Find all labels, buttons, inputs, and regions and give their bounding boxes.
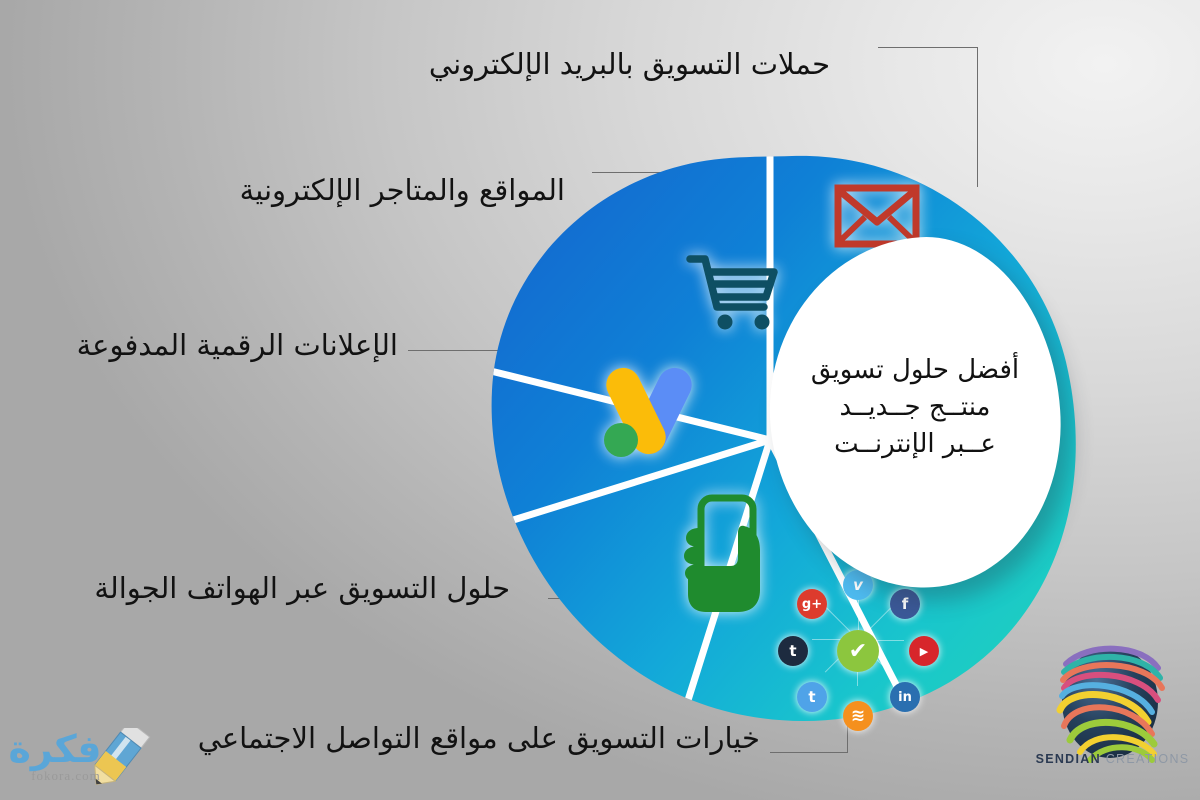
brand-name: SENDIAN CREATIONS (1030, 752, 1195, 766)
social-cluster-icon: v f ▶ in ≋ t t g+ ✔ (788, 570, 928, 710)
label-websites-estores: المواقع والمتاجر الإلكترونية (180, 172, 565, 208)
google-ads-icon (597, 363, 703, 467)
brand-name-light: CREATIONS (1106, 752, 1190, 766)
googleplus-icon[interactable]: g+ (797, 589, 827, 619)
twitter-icon[interactable]: t (797, 682, 827, 712)
fokora-arabic-text: فكرة (6, 730, 104, 768)
label-social-media-marketing: خيارات التسويق على مواقع التواصل الاجتما… (140, 720, 760, 756)
center-line-2: منتــج جــديــد (790, 389, 1040, 426)
shopping-cart-icon (686, 250, 780, 336)
hand-phone-icon (674, 494, 778, 620)
fokora-latin-text: fokora.com (6, 768, 126, 784)
label-paid-digital-ads: الإعلانات الرقمية المدفوعة (20, 327, 398, 363)
youtube-icon[interactable]: ▶ (909, 636, 939, 666)
brand-name-bold: SENDIAN (1036, 752, 1101, 766)
label-email-marketing: حملات التسويق بالبريد الإلكتروني (380, 46, 830, 82)
facebook-icon[interactable]: f (890, 589, 920, 619)
rss-icon[interactable]: ≋ (843, 701, 873, 731)
check-icon[interactable]: ✔ (837, 630, 879, 672)
center-line-3: عــبر الإنترنــت (790, 426, 1040, 463)
center-headline: أفضل حلول تسويق منتــج جــديــد عــبر ال… (790, 352, 1040, 463)
infographic-canvas: v f ▶ in ≋ t t g+ ✔ أفضل حلول تسويق منتـ… (0, 0, 1200, 800)
label-mobile-marketing: حلول التسويق عبر الهواتف الجوالة (60, 570, 510, 606)
tumblr-icon[interactable]: t (778, 636, 808, 666)
linkedin-icon[interactable]: in (890, 682, 920, 712)
center-line-1: أفضل حلول تسويق (790, 352, 1040, 389)
